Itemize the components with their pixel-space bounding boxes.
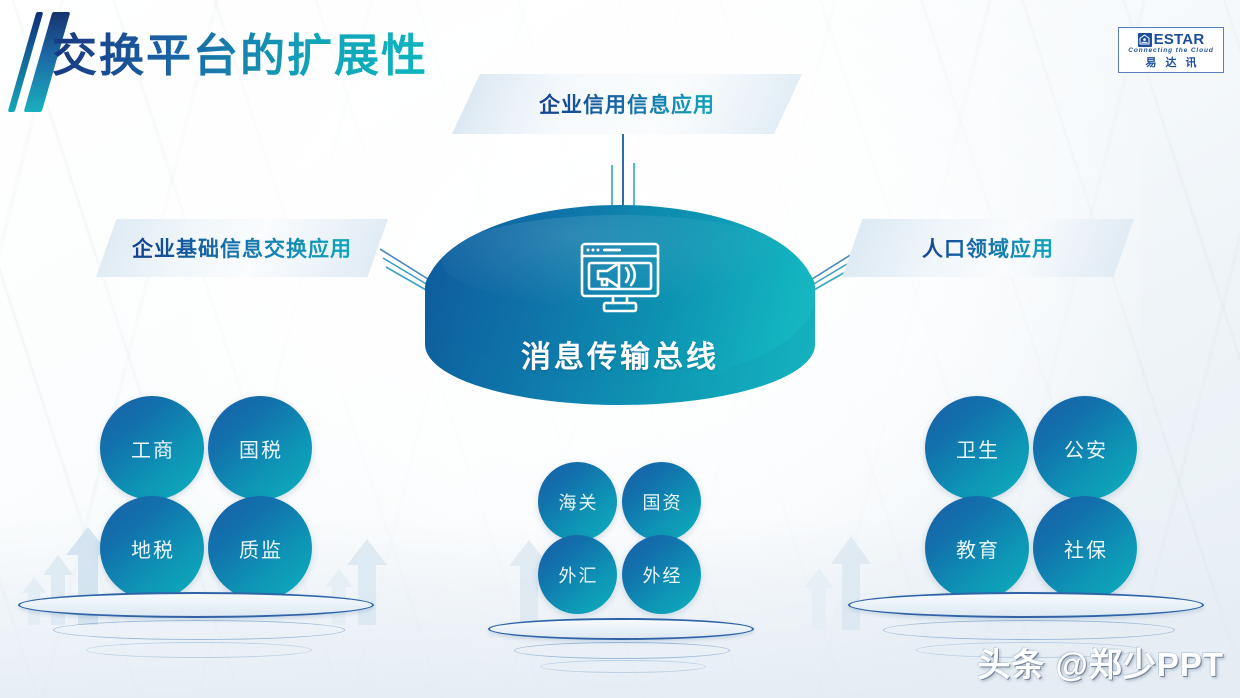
banner-right-label: 人口领域应用	[922, 233, 1054, 263]
node-dishui[interactable]: 地税	[100, 496, 204, 600]
node-gongshang[interactable]: 工商	[100, 396, 204, 500]
platform-rings-left	[18, 592, 388, 662]
message-bus-hub[interactable]: 消息传输总线	[425, 205, 815, 405]
platform-rings-center	[488, 618, 798, 678]
group-center: 海关 国资 外汇 外经	[538, 462, 708, 612]
banner-top[interactable]: 企业信用信息应用	[452, 74, 802, 134]
ring-left-second	[53, 620, 345, 640]
node-guoshui[interactable]: 国税	[208, 396, 312, 500]
group-right: 卫生 公安 教育 社保	[925, 396, 1143, 596]
banner-right[interactable]: 人口领域应用	[842, 219, 1134, 277]
hub-content: 消息传输总线	[425, 205, 815, 405]
watermark: 头条 @郑少PPT	[977, 638, 1224, 686]
logo-chinese-name: 易达讯	[1137, 58, 1206, 69]
banner-left-label: 企业基础信息交换应用	[132, 233, 352, 263]
ring-center-third	[540, 660, 706, 673]
node-jiaoyu[interactable]: 教育	[925, 496, 1029, 600]
ring-center-main	[488, 618, 754, 640]
group-left: 工商 国税 地税 质监	[100, 396, 318, 596]
node-haiguan[interactable]: 海关	[538, 462, 617, 541]
node-waihui[interactable]: 外汇	[538, 535, 617, 614]
ring-right-second	[883, 620, 1175, 640]
logo-tagline: Connecting the Cloud	[1128, 48, 1214, 55]
logo-primary-row: ESTAR	[1138, 32, 1205, 47]
banner-top-label: 企业信用信息应用	[539, 89, 715, 119]
node-waijing[interactable]: 外经	[622, 535, 701, 614]
page-title: 交换平台的扩展性	[52, 19, 428, 84]
node-guozi[interactable]: 国资	[622, 462, 701, 541]
ring-left-third	[86, 642, 312, 658]
estar-mark-icon	[1138, 33, 1152, 47]
node-gongan[interactable]: 公安	[1033, 396, 1137, 500]
hub-label: 消息传输总线	[521, 332, 719, 376]
background-arrows-right	[790, 490, 930, 630]
node-zhijian[interactable]: 质监	[208, 496, 312, 600]
ring-center-second	[514, 642, 730, 659]
banner-left[interactable]: 企业基础信息交换应用	[96, 219, 388, 277]
node-weisheng[interactable]: 卫生	[925, 396, 1029, 500]
company-logo: ESTAR Connecting the Cloud 易达讯	[1118, 27, 1224, 73]
monitor-megaphone-icon	[577, 241, 663, 320]
node-shebao[interactable]: 社保	[1033, 496, 1137, 600]
slide-canvas: 交换平台的扩展性 ESTAR Connecting the Cloud 易达讯	[0, 0, 1240, 698]
background-arrows-center-left	[318, 495, 438, 625]
logo-wordmark: ESTAR	[1154, 32, 1205, 47]
